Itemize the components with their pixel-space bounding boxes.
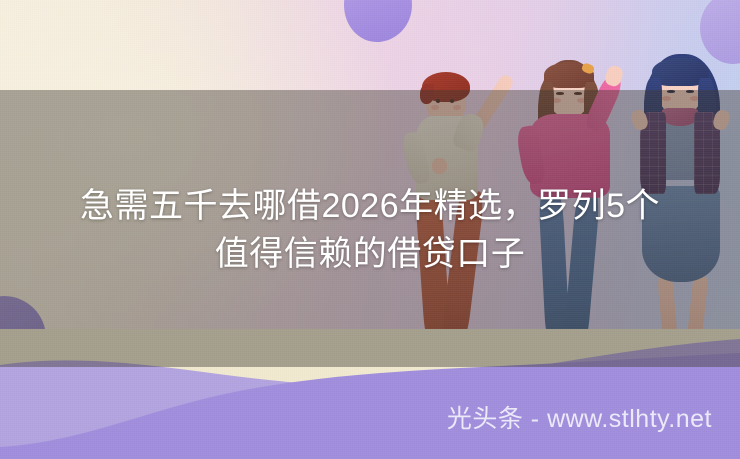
banner-title: 急需五千去哪借2026年精选，罗列5个 值得信赖的借贷口子 <box>0 182 740 278</box>
article-cover-banner: 急需五千去哪借2026年精选，罗列5个 值得信赖的借贷口子 光头条 - www.… <box>0 0 740 459</box>
site-watermark: 光头条 - www.stlhty.net <box>0 402 740 436</box>
